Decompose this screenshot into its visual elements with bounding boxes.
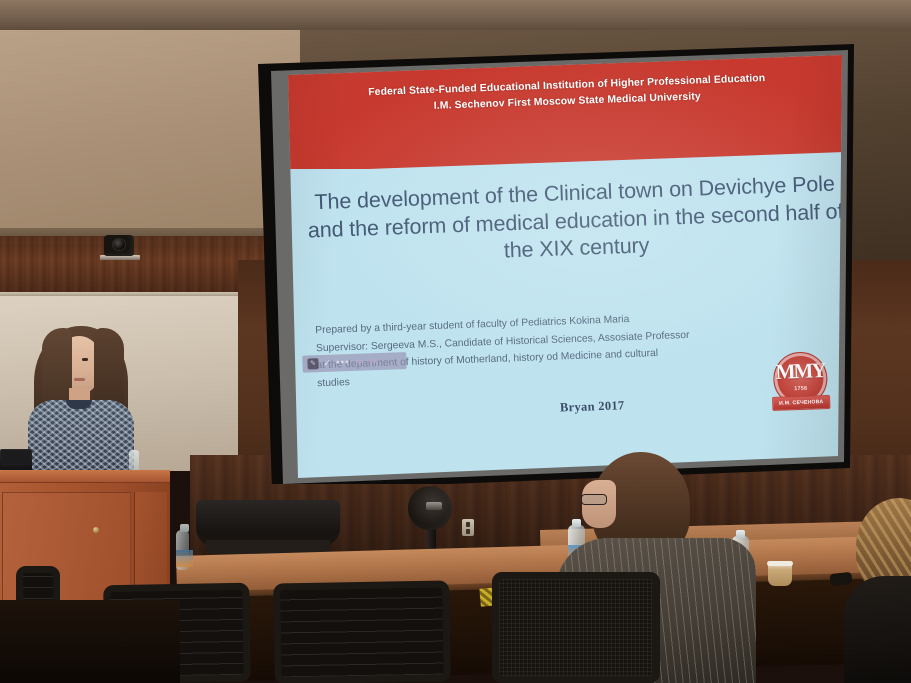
- foreground-shadow: [0, 600, 180, 683]
- slide-citation: Bryan 2017: [482, 395, 702, 418]
- seal-monogram: MMY: [771, 360, 830, 383]
- slide-content: Federal State-Funded Educational Institu…: [290, 50, 854, 473]
- seal-banner-text: И.М. СЕЧЕНОВА: [779, 399, 823, 407]
- laser-pointer-icon[interactable]: ✓: [323, 359, 331, 368]
- bottle-on-podium: [129, 450, 139, 472]
- water-bottle: [176, 530, 189, 570]
- power-outlet-icon: [462, 519, 474, 536]
- camera-lens: [112, 238, 126, 251]
- presenter-at-podium: [26, 322, 136, 482]
- presentation-slide: Federal State-Funded Educational Institu…: [236, 44, 854, 484]
- chair[interactable]: [273, 580, 451, 683]
- coffee-cup: [768, 563, 792, 586]
- more-options-icon[interactable]: •••: [336, 358, 350, 368]
- eyeglasses-icon: [581, 494, 607, 505]
- presenter-mouth: [74, 378, 85, 381]
- university-seal: MMY 1758 И.М. СЕЧЕНОВА: [770, 351, 830, 415]
- audience-right-body: [844, 576, 911, 683]
- seal-banner: И.М. СЕЧЕНОВА: [772, 395, 830, 411]
- previous-slide-arrow-icon[interactable]: ⬅: [354, 357, 364, 368]
- monitor-arm-knob: [426, 502, 442, 510]
- podium-lock-knob: [93, 527, 99, 533]
- projection-screen: Federal State-Funded Educational Institu…: [236, 44, 854, 494]
- lecture-hall-scene: Federal State-Funded Educational Institu…: [0, 0, 911, 683]
- video-conference-camera-icon: [104, 235, 134, 259]
- chair-headrest-foreground: [196, 500, 340, 546]
- laptop-lid: [1, 450, 31, 466]
- slide-header: Federal State-Funded Educational Institu…: [291, 68, 844, 120]
- podium-top: [0, 470, 170, 483]
- seated-audience-member-right: [838, 498, 911, 683]
- slide-body-text: Prepared by a third-year student of facu…: [315, 305, 817, 394]
- chair[interactable]: [492, 572, 660, 683]
- presenter-eye-right: [82, 358, 88, 361]
- slide-title: The development of the Clinical town on …: [306, 170, 845, 272]
- pen-annotation-icon[interactable]: ✎: [307, 358, 318, 369]
- next-slide-arrow-icon[interactable]: ➡: [369, 356, 379, 367]
- laptop-on-podium: [0, 449, 32, 471]
